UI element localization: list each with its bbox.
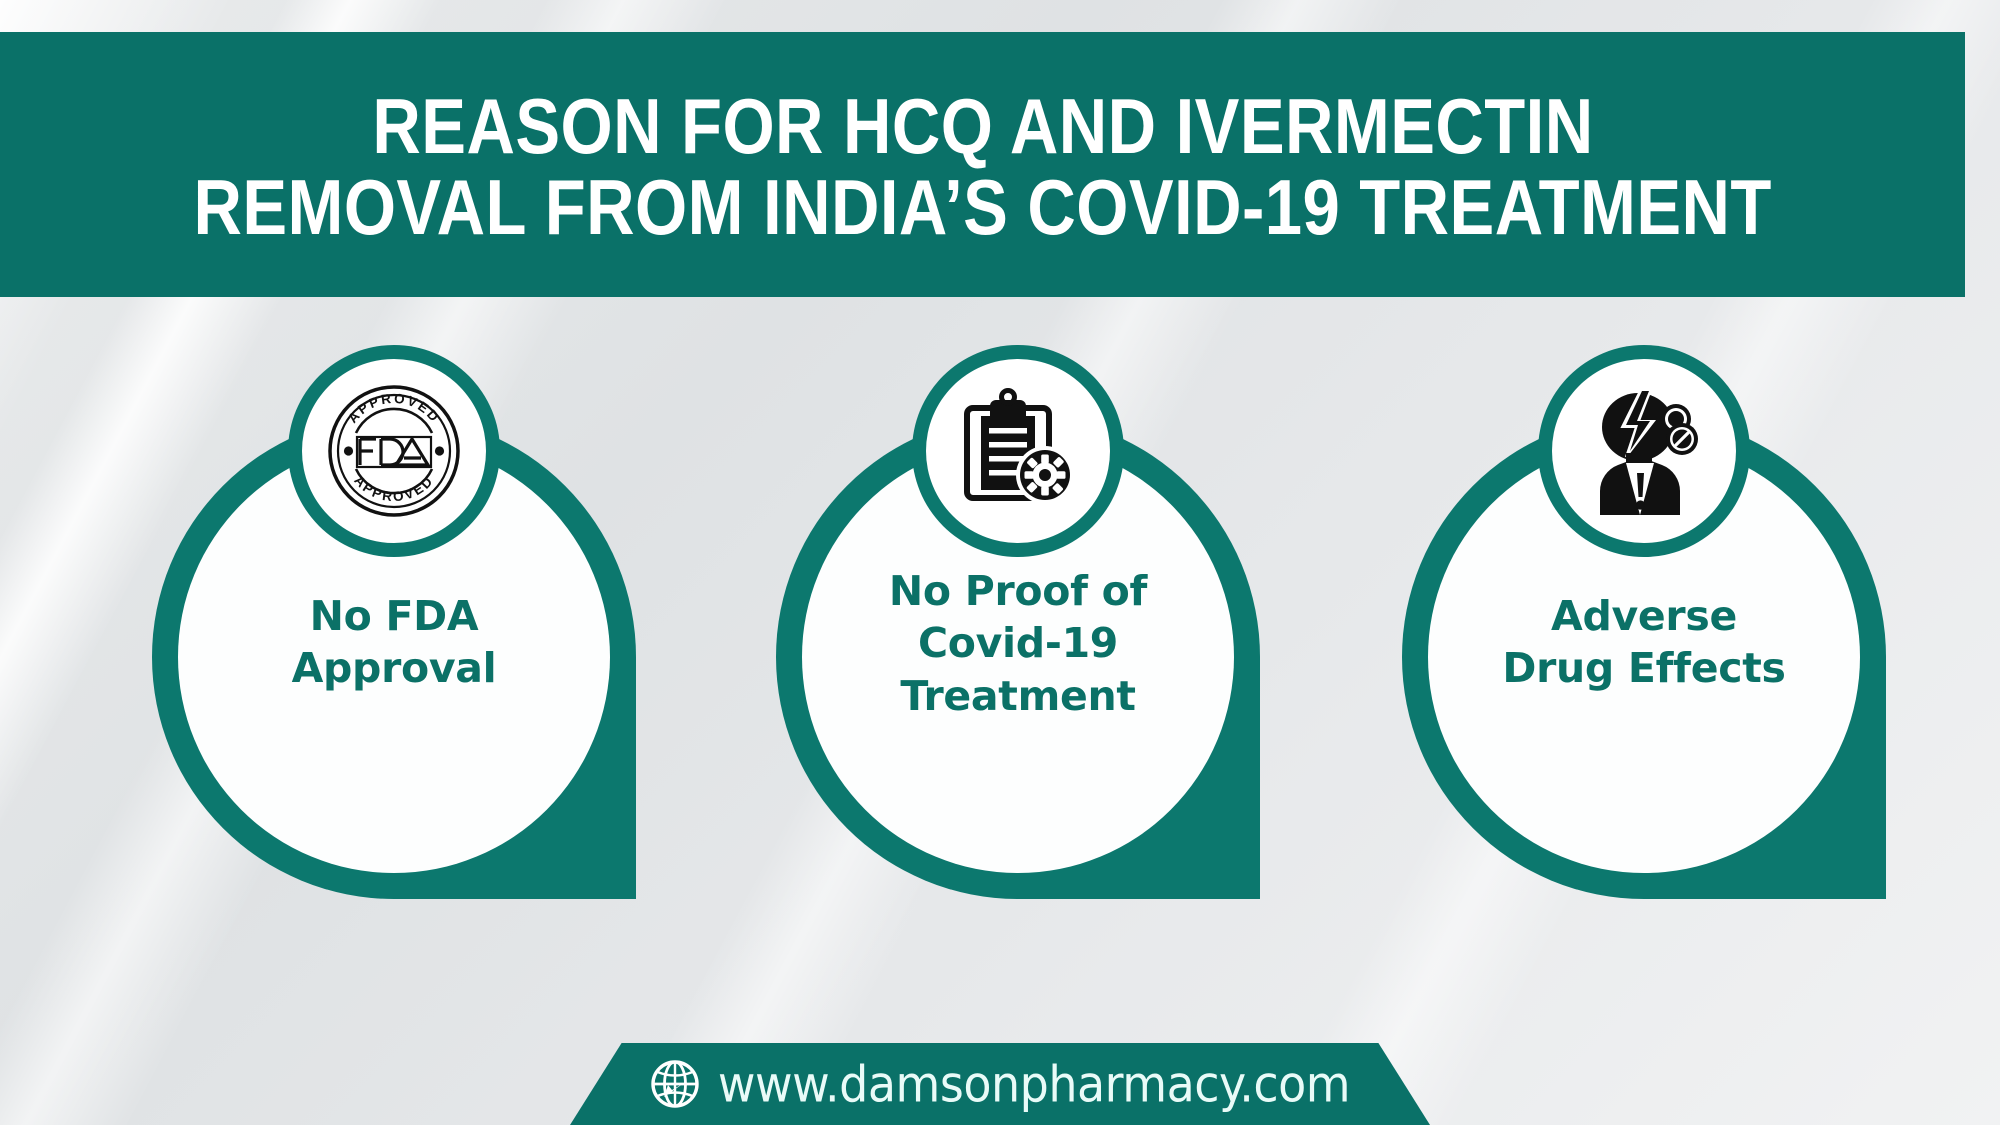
card-label-line: No Proof of [826,565,1210,617]
footer-ribbon: www.damsonpharmacy.com [570,1043,1430,1125]
card-label-line: No FDA [202,590,586,642]
icon-bubble-inner [926,359,1110,543]
clipboard-gear-icon [953,386,1083,516]
reason-card-adverse-drug-effects[interactable]: Adverse Drug Effects [1402,415,1886,899]
header-banner: REASON FOR HCQ AND IVERMECTIN REMOVAL FR… [0,32,1965,297]
icon-bubble [912,345,1124,557]
card-label-line: Drug Effects [1452,642,1836,694]
infographic-poster: REASON FOR HCQ AND IVERMECTIN REMOVAL FR… [0,0,2000,1125]
card-label-line: Adverse [1452,590,1836,642]
patient-headache-pills-icon [1576,383,1712,519]
reason-card-no-proof-of-covid19-treatment[interactable]: No Proof of Covid-19 Treatment [776,415,1260,899]
reason-cards-row: APPROVED APPROVED [0,355,2000,915]
fda-approved-stamp-icon: APPROVED APPROVED [324,381,464,521]
card-label-line: Covid-19 [826,617,1210,669]
card-label-line: Approval [202,642,586,694]
card-label: No Proof of Covid-19 Treatment [826,565,1210,722]
icon-bubble: APPROVED APPROVED [288,345,500,557]
card-label-line: Treatment [826,670,1210,722]
icon-bubble-inner [1552,359,1736,543]
footer-website-url[interactable]: www.damsonpharmacy.com [718,1055,1350,1113]
icon-bubble-inner: APPROVED APPROVED [302,359,486,543]
reason-card-no-fda-approval[interactable]: APPROVED APPROVED [152,415,636,899]
card-label: Adverse Drug Effects [1452,590,1836,695]
card-label: No FDA Approval [202,590,586,695]
icon-bubble [1538,345,1750,557]
page-title-line-2: REMOVAL FROM INDIA’S COVID-19 TREATMENT [193,167,1771,247]
globe-icon [650,1059,700,1109]
page-title-line-1: REASON FOR HCQ AND IVERMECTIN [372,86,1593,166]
